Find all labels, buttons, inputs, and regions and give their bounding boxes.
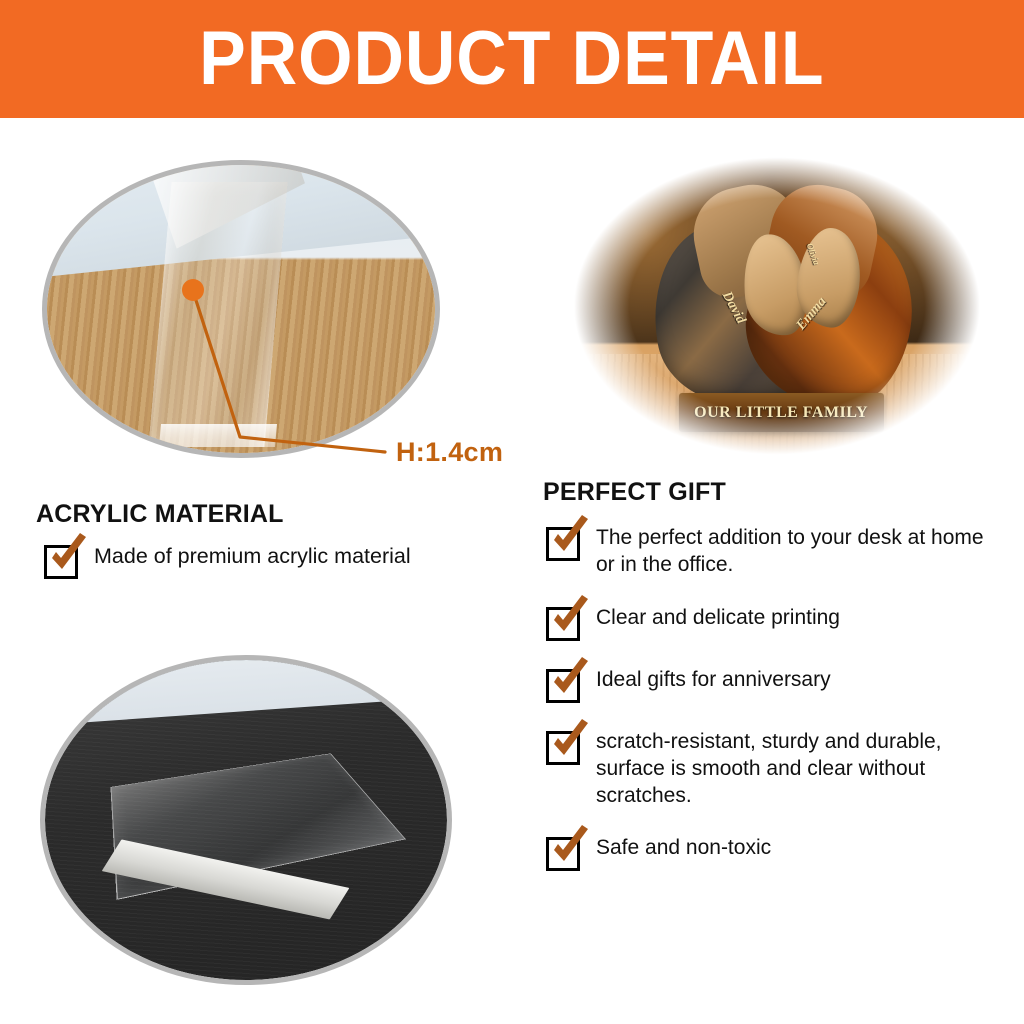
check-mark-icon bbox=[546, 823, 594, 871]
acrylic-block-scene bbox=[45, 660, 447, 980]
acrylic-block-photo bbox=[40, 655, 452, 985]
check-mark-icon bbox=[546, 593, 594, 641]
section-heading-perfect-gift: PERFECT GIFT bbox=[543, 478, 726, 507]
product-photo: Olivia David Emma OUR LITTLE FAMILY bbox=[572, 156, 982, 456]
list-item: The perfect addition to your desk at hom… bbox=[546, 525, 1006, 579]
checkbox-checked-icon bbox=[546, 607, 580, 641]
check-mark-icon bbox=[546, 717, 594, 765]
list-item-label: Ideal gifts for anniversary bbox=[596, 667, 831, 694]
check-mark-icon bbox=[546, 655, 594, 703]
list-item: Safe and non-toxic bbox=[546, 835, 1006, 871]
list-item: Made of premium acrylic material bbox=[44, 543, 514, 579]
acrylic-edge-scene bbox=[47, 165, 435, 453]
thickness-marker-dot bbox=[182, 279, 204, 301]
checkbox-checked-icon bbox=[546, 731, 580, 765]
list-item-label: Made of premium acrylic material bbox=[94, 543, 411, 571]
base-plaque-text: OUR LITTLE FAMILY bbox=[694, 404, 868, 422]
section-heading-acrylic-material: ACRYLIC MATERIAL bbox=[36, 500, 284, 529]
checkbox-checked-icon bbox=[546, 527, 580, 561]
checkbox-checked-icon bbox=[546, 837, 580, 871]
checkbox-checked-icon bbox=[546, 669, 580, 703]
list-item-label: Clear and delicate printing bbox=[596, 605, 840, 632]
feature-list-perfect-gift: The perfect addition to your desk at hom… bbox=[546, 525, 1006, 897]
list-item: Ideal gifts for anniversary bbox=[546, 667, 1006, 703]
list-item-label: scratch-resistant, sturdy and durable, s… bbox=[596, 729, 1006, 810]
thickness-callout-label: H:1.4cm bbox=[396, 437, 503, 468]
base-plaque: OUR LITTLE FAMILY bbox=[679, 393, 884, 432]
acrylic-block-base bbox=[159, 424, 277, 447]
list-item-label: Safe and non-toxic bbox=[596, 835, 771, 862]
list-item-label: The perfect addition to your desk at hom… bbox=[596, 525, 1006, 579]
list-item: Clear and delicate printing bbox=[546, 605, 1006, 641]
page-title: PRODUCT DETAIL bbox=[199, 21, 824, 97]
acrylic-edge-photo bbox=[42, 160, 440, 458]
header-banner: PRODUCT DETAIL bbox=[0, 0, 1024, 118]
list-item: scratch-resistant, sturdy and durable, s… bbox=[546, 729, 1006, 810]
feature-list-acrylic-material: Made of premium acrylic material bbox=[44, 543, 514, 605]
check-mark-icon bbox=[44, 531, 92, 579]
checkbox-checked-icon bbox=[44, 545, 78, 579]
check-mark-icon bbox=[546, 513, 594, 561]
